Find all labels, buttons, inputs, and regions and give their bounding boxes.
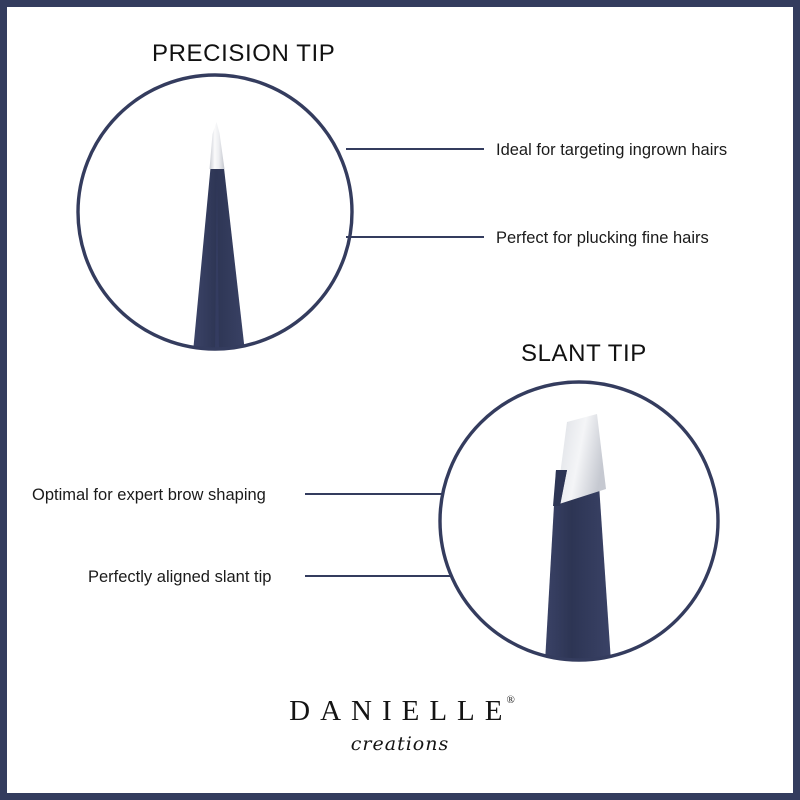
slant-tweezer-blade — [556, 414, 606, 505]
slant-callout-2: Perfectly aligned slant tip — [88, 567, 271, 587]
illustration-canvas — [0, 0, 800, 800]
brand-name-text: DANIELLE — [289, 695, 512, 727]
precision-callout-1: Ideal for targeting ingrown hairs — [496, 140, 727, 160]
precision-callout-2: Perfect for plucking fine hairs — [496, 228, 709, 248]
slant-callout-1: Optimal for expert brow shaping — [32, 485, 266, 505]
precision-tweezer-body — [193, 168, 245, 352]
slant-tweezer-graphic — [545, 414, 611, 662]
product-feature-infographic: PRECISION TIP Ideal for targeting ingrow… — [0, 0, 800, 800]
precision-tip-heading: PRECISION TIP — [152, 40, 335, 68]
precision-tweezer-graphic — [193, 122, 245, 352]
slant-tip-heading: SLANT TIP — [521, 340, 647, 368]
brand-name-wordmark: DANIELLE® — [279, 695, 521, 728]
slant-tip-illustration — [305, 382, 718, 662]
brand-tagline: creations — [0, 733, 800, 755]
registered-trademark-icon: ® — [506, 694, 514, 706]
precision-tip-illustration — [78, 75, 484, 352]
precision-tweezer-tip — [210, 122, 225, 169]
brand-logo: DANIELLE® creations — [0, 695, 800, 755]
